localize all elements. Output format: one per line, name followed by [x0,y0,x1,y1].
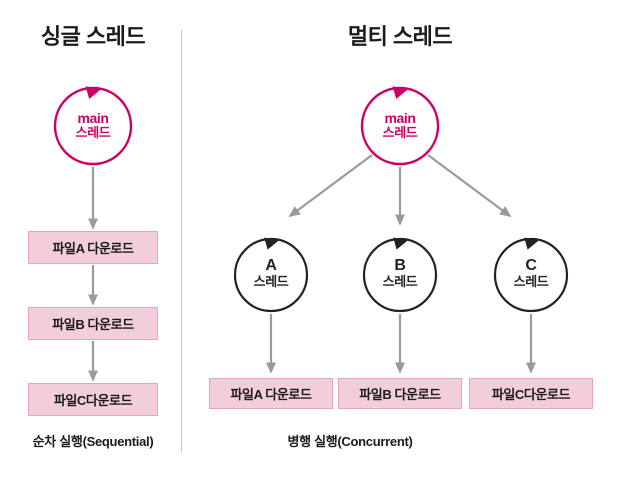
worker-thread-name-a: A [221,257,321,275]
left-step-box-1: 파일A 다운로드 [28,231,158,264]
task-box-a: 파일A 다운로드 [209,378,333,409]
worker-thread-label-c: C 스레드 [481,257,581,290]
left-panel-caption: 순차 실행(Sequential) [13,435,173,450]
right-main-thread-label: main 스레드 [350,110,450,141]
task-box-c: 파일C다운로드 [469,378,593,409]
worker-thread-sub-b: 스레드 [350,275,450,290]
worker-thread-sub-a: 스레드 [221,275,321,290]
left-step-box-3: 파일C다운로드 [28,383,158,416]
right-main-thread-label-line1: main [350,110,450,126]
worker-thread-name-c: C [481,257,581,275]
left-panel-title: 싱글 스레드 [13,24,173,49]
worker-thread-name-b: B [350,257,450,275]
fork-arrow-to-a [290,155,372,216]
left-main-thread-label: main 스레드 [43,110,143,141]
task-box-b: 파일B 다운로드 [338,378,462,409]
worker-thread-label-a: A 스레드 [221,257,321,290]
thread-comparison-diagram: 싱글 스레드 main 스레드 파일A 다운로드 파일B 다운로드 파일C다운로… [0,0,625,480]
left-step-box-2: 파일B 다운로드 [28,307,158,340]
right-panel-title: 멀티 스레드 [320,24,480,49]
left-main-thread-label-line2: 스레드 [43,126,143,141]
left-main-thread-label-line1: main [43,110,143,126]
fork-arrow-to-c [428,155,510,216]
right-panel-caption: 병행 실행(Concurrent) [250,435,450,450]
worker-thread-sub-c: 스레드 [481,275,581,290]
worker-thread-label-b: B 스레드 [350,257,450,290]
fork-arrows [290,155,510,224]
worker-to-task-arrows [271,314,531,372]
right-main-thread-label-line2: 스레드 [350,126,450,141]
